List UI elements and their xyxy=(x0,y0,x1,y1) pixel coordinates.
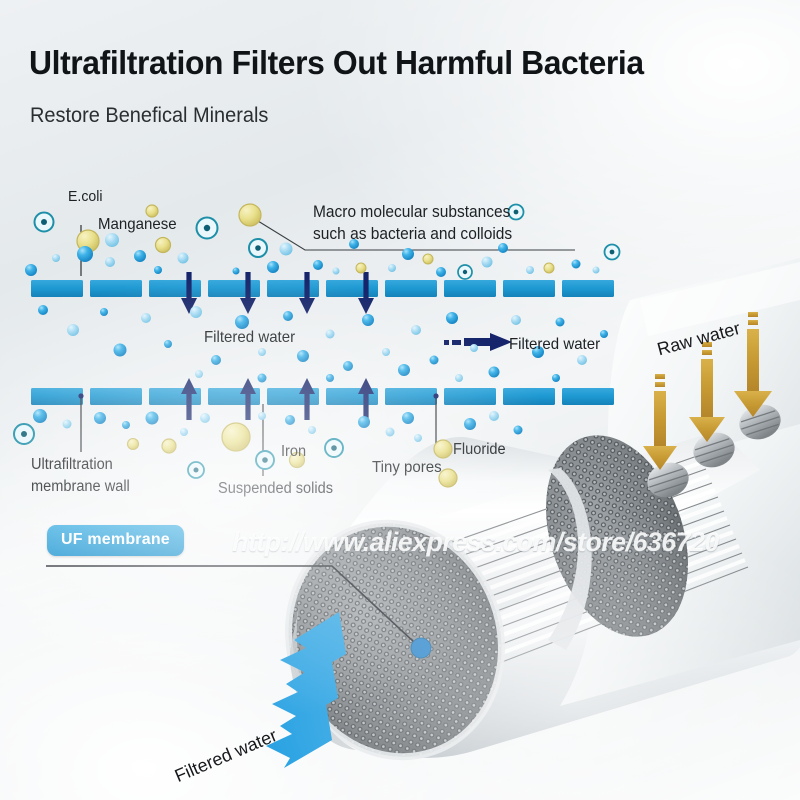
water-particle xyxy=(455,374,463,382)
water-particle xyxy=(235,315,249,329)
membrane-row-lower xyxy=(31,388,614,405)
water-particle xyxy=(258,412,266,420)
water-particle xyxy=(326,374,334,382)
water-particle xyxy=(411,325,421,335)
mineral-particle xyxy=(439,469,457,487)
ecoli-particle xyxy=(605,245,620,260)
mineral-particle xyxy=(423,254,433,264)
ecoli-particle xyxy=(197,218,218,239)
water-particle xyxy=(382,348,390,356)
water-particle xyxy=(526,266,534,274)
water-particle xyxy=(63,420,72,429)
ecoli-particle xyxy=(249,239,267,257)
label-iron: Iron xyxy=(281,443,306,461)
water-particle xyxy=(430,356,439,365)
water-particle xyxy=(122,421,130,429)
mineral-particle xyxy=(434,440,452,458)
mineral-particle xyxy=(156,238,171,253)
infographic-canvas: Ultrafiltration Filters Out Harmful Bact… xyxy=(0,0,800,800)
water-particle xyxy=(105,257,115,267)
label-macro-molecular-line1: Macro molecular substances xyxy=(313,203,510,222)
water-particle xyxy=(313,260,323,270)
water-particle xyxy=(386,428,395,437)
water-particle xyxy=(593,267,600,274)
water-particle xyxy=(358,416,370,428)
water-particle xyxy=(600,330,608,338)
mineral-particle xyxy=(544,263,554,273)
water-particle xyxy=(464,418,476,430)
water-particle xyxy=(267,261,279,273)
water-particle xyxy=(141,313,151,323)
water-particle xyxy=(233,268,240,275)
water-particle xyxy=(489,367,500,378)
label-suspended-solids: Suspended solids xyxy=(218,480,333,498)
water-particle xyxy=(511,315,521,325)
water-particle xyxy=(211,355,221,365)
water-particle xyxy=(190,306,202,318)
water-particle xyxy=(446,312,458,324)
water-particle xyxy=(343,361,353,371)
label-membrane-wall-line1: Ultrafiltration xyxy=(31,456,113,474)
ecoli-particle xyxy=(458,265,472,279)
water-particle xyxy=(577,355,587,365)
label-filtered-water-arrow: Filtered water xyxy=(509,336,600,354)
water-particle xyxy=(283,311,293,321)
label-manganese: Manganese xyxy=(98,216,177,234)
water-particle xyxy=(134,250,146,262)
filtered-water-right-arrow xyxy=(444,333,512,351)
water-particle xyxy=(285,415,295,425)
water-particle xyxy=(114,344,127,357)
water-particle xyxy=(388,264,396,272)
store-url-watermark: http://www.aliexpress.com/store/636720 xyxy=(232,527,719,558)
page-title: Ultrafiltration Filters Out Harmful Bact… xyxy=(29,44,644,82)
water-particle xyxy=(398,364,410,376)
water-particle xyxy=(38,305,48,315)
water-particle xyxy=(94,412,106,424)
water-particle xyxy=(514,426,523,435)
water-particle xyxy=(482,257,493,268)
water-particle xyxy=(180,428,188,436)
rejected-particles-bottom xyxy=(14,409,523,487)
water-particle xyxy=(470,344,478,352)
water-particle xyxy=(77,246,93,262)
water-particle xyxy=(67,324,79,336)
water-particle xyxy=(280,243,293,256)
ecoli-particle xyxy=(188,462,204,478)
ecoli-particle xyxy=(325,439,343,457)
label-tiny-pores: Tiny pores xyxy=(372,459,442,477)
water-particle xyxy=(154,266,162,274)
water-particle xyxy=(436,267,446,277)
water-particle xyxy=(25,264,37,276)
label-macro-molecular-line2: such as bacteria and colloids xyxy=(313,225,512,244)
water-particle xyxy=(297,350,309,362)
mineral-particle xyxy=(128,439,139,450)
water-particle xyxy=(414,434,422,442)
mineral-particle xyxy=(356,263,366,273)
ecoli-particle xyxy=(256,451,274,469)
water-particle xyxy=(178,253,189,264)
water-particle xyxy=(498,243,508,253)
water-particle xyxy=(200,413,210,423)
membrane-row-upper xyxy=(31,280,614,297)
water-particle xyxy=(164,340,172,348)
label-ecoli: E.coli xyxy=(68,188,102,205)
mineral-particle xyxy=(239,204,261,226)
mineral-particle xyxy=(222,423,250,451)
water-particle xyxy=(52,254,60,262)
water-particle xyxy=(100,308,108,316)
water-particle xyxy=(402,248,414,260)
water-particle xyxy=(556,318,565,327)
water-particle xyxy=(333,268,340,275)
water-particle xyxy=(362,314,374,326)
water-particle xyxy=(326,330,335,339)
ecoli-particle xyxy=(14,424,34,444)
water-particle xyxy=(572,260,581,269)
water-particle xyxy=(552,374,560,382)
ecoli-particle xyxy=(509,205,524,220)
water-particle xyxy=(33,409,47,423)
ecoli-particle xyxy=(35,213,54,232)
label-filtered-water-inner: Filtered water xyxy=(204,329,295,347)
label-fluoride: Fluoride xyxy=(453,441,506,459)
water-particle xyxy=(258,348,266,356)
uf-membrane-badge: UF membrane xyxy=(47,525,184,556)
page-subtitle: Restore Benefical Minerals xyxy=(30,104,268,128)
water-particle xyxy=(195,370,203,378)
mineral-particle xyxy=(162,439,176,453)
water-particle xyxy=(105,233,119,247)
water-particle xyxy=(402,412,414,424)
water-particle xyxy=(308,426,316,434)
water-particle xyxy=(258,374,267,383)
water-particle xyxy=(146,412,159,425)
water-particle xyxy=(489,411,499,421)
label-membrane-wall-line2: membrane wall xyxy=(31,478,130,496)
